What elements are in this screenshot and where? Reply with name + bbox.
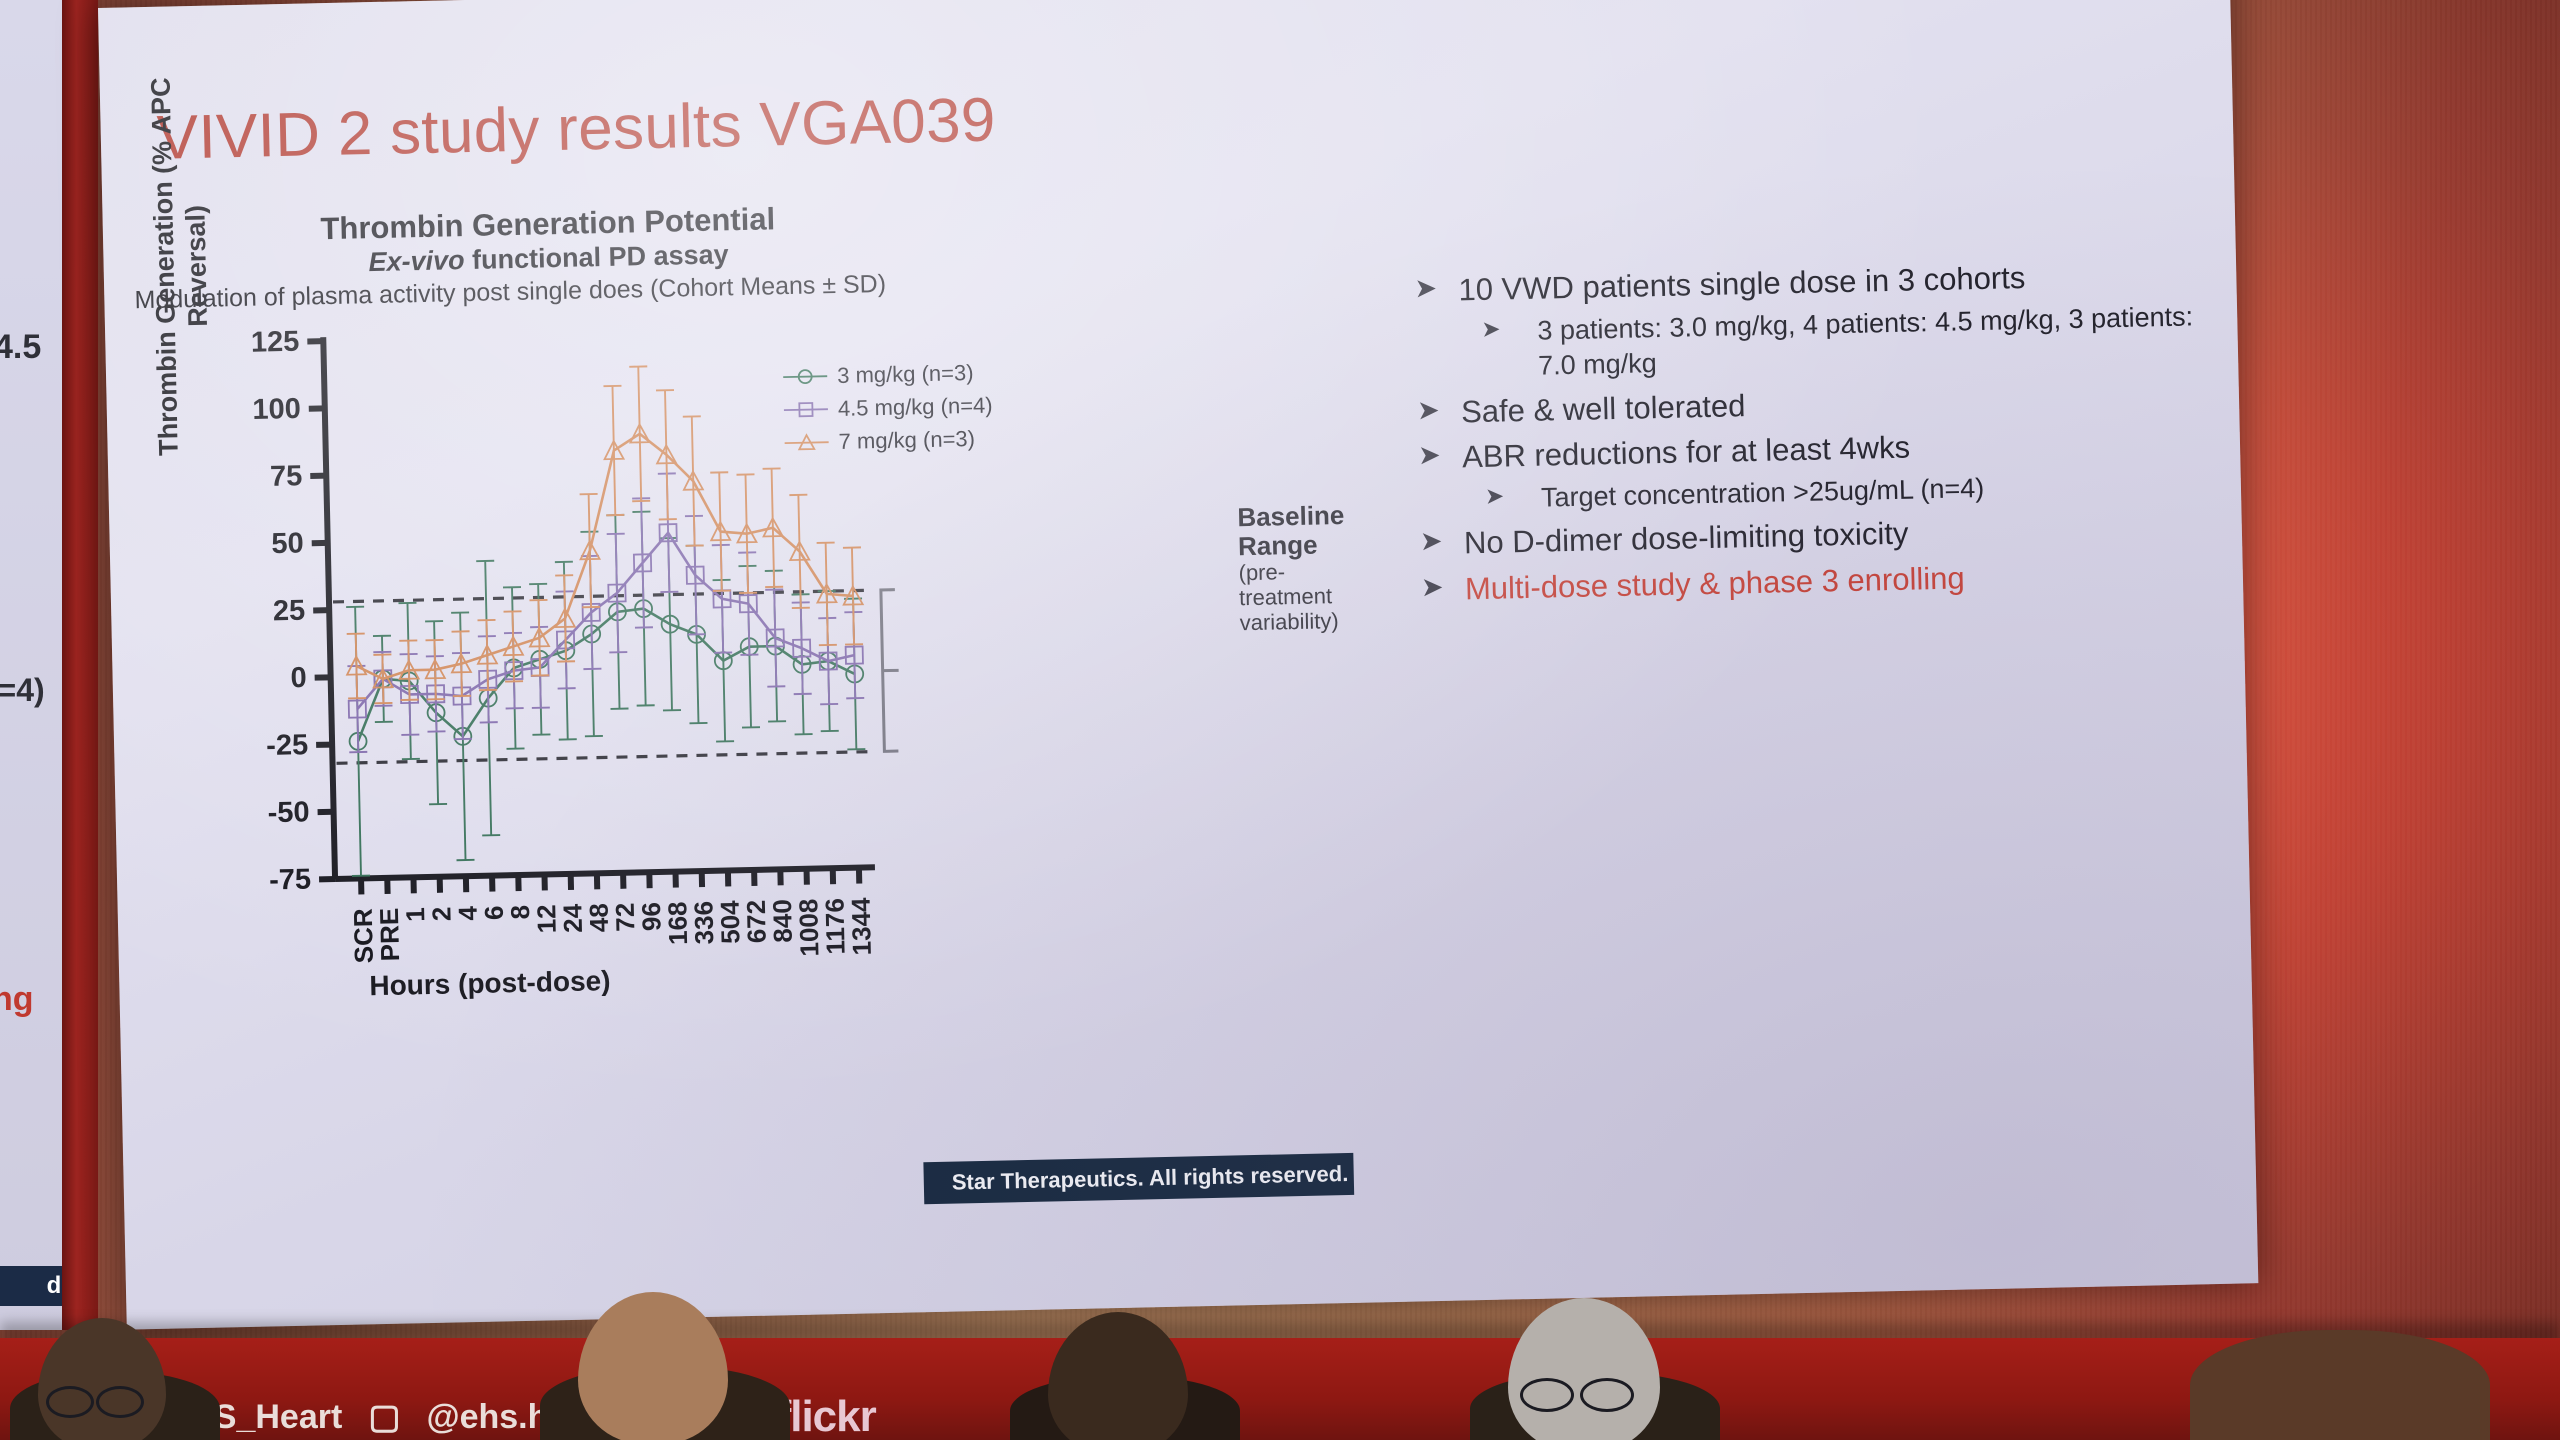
- legend-marker-circle: [782, 365, 828, 388]
- bullet-arrow-icon: ➤: [1485, 481, 1542, 517]
- y-tick-label: 0: [290, 662, 307, 694]
- baseline-range-sub-3: variability): [1239, 607, 1439, 636]
- aux-fragment-3: ng: [0, 980, 34, 1019]
- legend-label: 4.5 mg/kg (n=4): [838, 392, 993, 421]
- photo-of-conference-slide: 4.5 n=4) ng d. VIVID 2 study results VGA…: [0, 0, 2560, 1440]
- series-circle: [344, 507, 868, 876]
- chart-container: Thrombin Generation (% APC Reversal) 125…: [145, 309, 1000, 1027]
- chart-legend: 3 mg/kg (n=3)4.5 mg/kg (n=4)7 mg/kg (n=3…: [782, 356, 994, 460]
- y-tick-label: -75: [269, 864, 312, 897]
- baseline-reference-line: [333, 590, 865, 602]
- copyright-text: Star Therapeutics. All rights reserved.: [924, 1161, 1349, 1196]
- y-tick-label: -25: [266, 729, 309, 762]
- eyeglasses-right-lens: [96, 1386, 144, 1418]
- chart-subtitle-italic: Ex-vivo: [368, 245, 465, 277]
- bullet-text: ABR reductions for at least 4wks: [1462, 427, 1911, 476]
- red-pillar: [62, 0, 98, 1330]
- audience-shoulders-5: [2190, 1330, 2490, 1440]
- legend-marker-triangle: [783, 431, 829, 454]
- flickr-logo: flickr: [777, 1392, 876, 1440]
- y-tick-label: 25: [273, 595, 306, 628]
- aux-fragment-1: 4.5: [0, 328, 41, 367]
- bullet-text: 10 VWD patients single dose in 3 cohorts: [1458, 258, 2026, 310]
- bullet-item: ➤3 patients: 3.0 mg/kg, 4 patients: 4.5 …: [1481, 299, 2206, 385]
- baseline-range-title-1: Baseline: [1237, 499, 1438, 532]
- bullet-text: No D-dimer dose-limiting toxicity: [1464, 514, 1909, 563]
- baseline-range-annotation: Baseline Range (pre- treatment variabili…: [1237, 499, 1440, 636]
- y-tick-label: -50: [267, 796, 310, 829]
- chart-header: Thrombin Generation Potential Ex-vivo fu…: [163, 198, 935, 316]
- legend-label: 3 mg/kg (n=3): [837, 359, 974, 388]
- y-tick-label: 75: [270, 460, 303, 493]
- y-tick-label: 125: [251, 326, 300, 359]
- legend-label: 7 mg/kg (n=3): [838, 425, 975, 454]
- bullet-arrow-icon: ➤: [1420, 524, 1465, 564]
- legend-item: 3 mg/kg (n=3): [782, 356, 992, 394]
- projection-screen: VIVID 2 study results VGA039 Thrombin Ge…: [98, 0, 2258, 1330]
- y-tick-label: 100: [252, 393, 301, 426]
- bullet-arrow-icon: ➤: [1481, 314, 1539, 385]
- x-axis-label: Hours (post-dose): [369, 965, 611, 1002]
- copyright-bar: Star Therapeutics. All rights reserved.: [923, 1153, 1354, 1204]
- baseline-reference-line: [337, 752, 869, 764]
- series-line: [354, 529, 856, 709]
- bullet-text: Multi-dose study & phase 3 enrolling: [1465, 558, 1965, 608]
- series-square: [343, 469, 865, 752]
- legend-item: 4.5 mg/kg (n=4): [783, 389, 993, 427]
- chart-subtitle-rest: functional PD assay: [464, 239, 729, 275]
- aux-fragment-2: n=4): [0, 672, 45, 709]
- eyeglasses-2-right-lens: [1580, 1378, 1634, 1412]
- eyeglasses-2-left-lens: [1520, 1378, 1574, 1412]
- eyeglasses-left-lens: [46, 1386, 94, 1418]
- instagram-icon: ▢: [368, 1397, 400, 1437]
- bullet-arrow-icon: ➤: [1414, 270, 1459, 310]
- bullet-arrow-icon: ➤: [1418, 437, 1463, 477]
- x-tick-label: 1344: [846, 897, 877, 956]
- legend-marker-square: [783, 398, 829, 421]
- legend-item: 7 mg/kg (n=3): [783, 422, 993, 460]
- bullet-text: Safe & well tolerated: [1461, 386, 1746, 432]
- baseline-range-title-2: Range: [1238, 528, 1439, 561]
- bullet-text: Target concentration >25ug/mL (n=4): [1541, 471, 1985, 516]
- slide-title: VIVID 2 study results VGA039: [156, 84, 996, 173]
- bullet-list: ➤10 VWD patients single dose in 3 cohort…: [1414, 254, 2211, 615]
- bullet-arrow-icon: ➤: [1417, 392, 1462, 432]
- bullet-arrow-icon: ➤: [1421, 569, 1466, 609]
- series-line: [351, 429, 854, 679]
- y-tick-label: 50: [271, 527, 304, 560]
- bullet-text: 3 patients: 3.0 mg/kg, 4 patients: 4.5 m…: [1537, 299, 2206, 384]
